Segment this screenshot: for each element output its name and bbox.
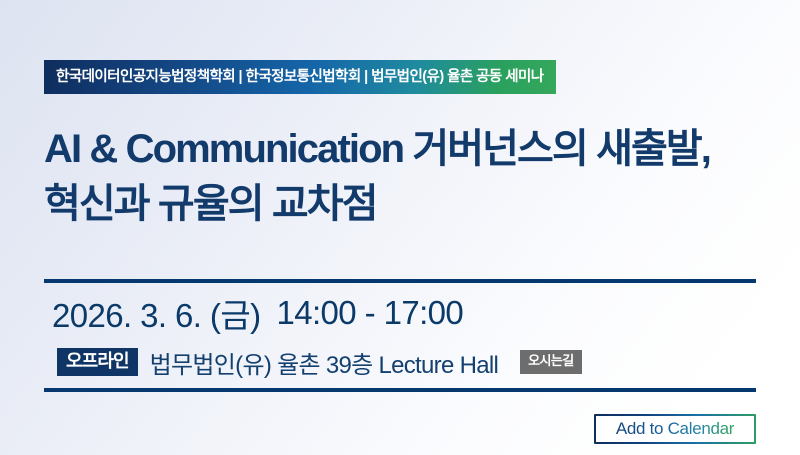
- event-venue-name: 법무법인(유) 율촌 39층 Lecture Hall: [150, 345, 499, 380]
- status-badge-offline: 오프라인: [57, 348, 138, 377]
- event-datetime-row: 2026. 3. 6. (금) 14:00 - 17:00: [52, 291, 463, 335]
- divider-top: [44, 279, 756, 283]
- page-title-line-1: AI & Communication 거버넌스의 새출발,: [44, 122, 764, 177]
- directions-badge[interactable]: 오시는길: [520, 350, 581, 373]
- page-title-line-2: 혁신과 규율의 교차점: [44, 177, 764, 232]
- add-to-calendar-button[interactable]: Add to Calendar: [594, 414, 756, 444]
- add-to-calendar-label: Add to Calendar: [616, 419, 734, 439]
- event-venue-row: 오프라인 법무법인(유) 율촌 39층 Lecture Hall 오시는길: [57, 345, 582, 379]
- event-date: 2026. 3. 6. (금): [52, 289, 260, 337]
- seminar-host-banner: 한국데이터인공지능법정책학회 | 한국정보통신법학회 | 법무법인(유) 율촌 …: [44, 60, 556, 94]
- divider-bottom: [44, 388, 756, 392]
- seminar-host-banner-text: 한국데이터인공지능법정책학회 | 한국정보통신법학회 | 법무법인(유) 율촌 …: [56, 70, 544, 85]
- page-title: AI & Communication 거버넌스의 새출발, 혁신과 규율의 교차…: [44, 122, 764, 232]
- event-time: 14:00 - 17:00: [276, 294, 463, 332]
